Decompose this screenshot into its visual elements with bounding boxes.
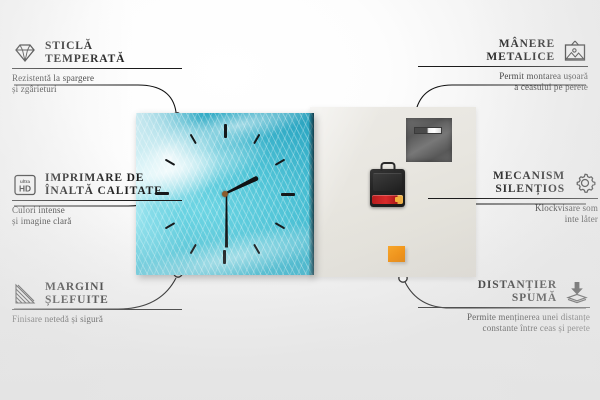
callout-polished-edges: MARGINIȘLEFUITE Finisare netedă și sigur… <box>12 281 182 325</box>
callout-divider <box>12 68 182 69</box>
ultra-hd-icon: ultra HD <box>12 173 38 197</box>
foam-spacer-part <box>388 246 405 262</box>
down-arrow-on-pad-icon <box>564 280 590 304</box>
callout-title: STICLĂTEMPERATĂ <box>45 40 125 65</box>
polished-edge-icon <box>12 282 38 306</box>
callout-divider <box>418 66 588 67</box>
mechanism-body <box>373 173 402 191</box>
callout-header: MÂNEREMETALICE <box>418 38 588 63</box>
callout-title: DISTANȚIERSPUMĂ <box>478 279 557 304</box>
callout-divider <box>12 309 182 310</box>
svg-text:HD: HD <box>19 183 31 193</box>
callout-description: Permit montarea ușoară a ceasului pe per… <box>418 71 588 92</box>
callout-description: Klockvisare som inte låter <box>428 203 598 224</box>
callout-title: IMPRIMARE DEÎNALTĂ CALITATE <box>45 172 163 197</box>
callout-description: Finisare netedă și sigură <box>12 314 182 325</box>
mechanism-hook <box>380 162 395 171</box>
diamond-icon <box>12 41 38 65</box>
hanger-slot <box>414 127 442 134</box>
callout-description: Permite menținerea unei distanțe constan… <box>418 312 590 333</box>
clock-mechanism-part <box>370 169 405 207</box>
callout-foam-spacer: DISTANȚIERSPUMĂ Permite menținerea unei … <box>418 279 590 333</box>
product-photo-group <box>136 107 476 282</box>
callout-header: MARGINIȘLEFUITE <box>12 281 182 306</box>
callout-title: MÂNEREMETALICE <box>486 38 555 63</box>
clock-minute-hand <box>225 196 228 248</box>
callout-description: Culori intense și imagine clară <box>12 205 182 226</box>
callout-divider <box>418 307 590 308</box>
callout-title: MECANISMSILENȚIOS <box>493 170 565 195</box>
callout-divider <box>428 198 598 199</box>
callout-silent-mechanism: MECANISMSILENȚIOS Klockvisare som inte l… <box>428 170 598 224</box>
feature-diagram-canvas: STICLĂTEMPERATĂ Rezistentă la spargere ș… <box>0 0 600 400</box>
callout-metal-handles: MÂNEREMETALICE Permit montarea ușoară a … <box>418 38 588 92</box>
glass-edge-highlight <box>309 113 314 275</box>
callout-header: ultra HD IMPRIMARE DEÎNALTĂ CALITATE <box>12 172 182 197</box>
hanging-picture-frame-icon <box>562 39 588 63</box>
callout-tempered-glass: STICLĂTEMPERATĂ Rezistentă la spargere ș… <box>12 40 182 94</box>
clock-hour-hand <box>223 175 259 196</box>
metal-hanger-part <box>406 118 452 162</box>
callout-header: STICLĂTEMPERATĂ <box>12 40 182 65</box>
callout-header: MECANISMSILENȚIOS <box>428 170 598 195</box>
callout-header: DISTANȚIERSPUMĂ <box>418 279 590 304</box>
callout-high-quality-print: ultra HD IMPRIMARE DEÎNALTĂ CALITATE Cul… <box>12 172 182 226</box>
callout-title: MARGINIȘLEFUITE <box>45 281 109 306</box>
mechanism-battery <box>372 195 403 204</box>
callout-divider <box>12 200 182 201</box>
gear-icon <box>572 171 598 195</box>
callout-description: Rezistentă la spargere și zgârieturi <box>12 73 182 94</box>
clock-center-cap <box>222 191 228 197</box>
